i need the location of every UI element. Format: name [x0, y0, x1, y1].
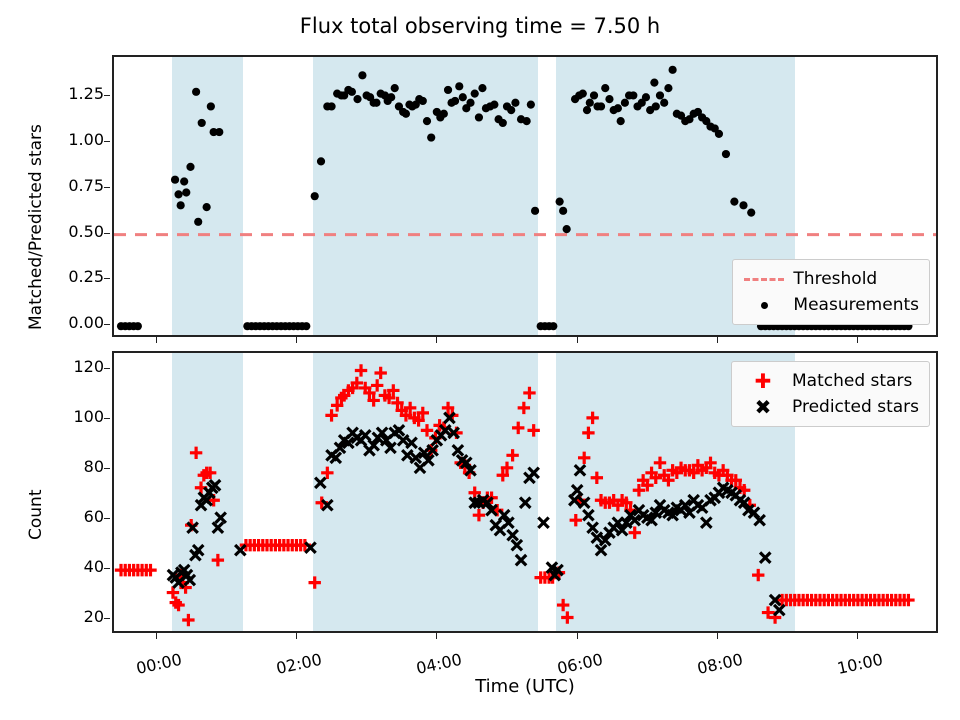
data-point [523, 117, 531, 125]
data-point [528, 468, 538, 478]
ytick-label: 1.25 [44, 86, 104, 102]
data-point [520, 498, 530, 508]
data-point [549, 322, 557, 330]
top-panel-legend: Threshold Measurements [732, 259, 930, 325]
data-point [575, 465, 585, 475]
data-point [629, 91, 637, 99]
data-point [355, 364, 367, 376]
ytick-mark [104, 418, 110, 419]
legend-label-predicted-stars: Predicted stars [786, 397, 919, 417]
data-point [466, 99, 474, 107]
data-point [583, 510, 593, 520]
data-point [523, 387, 535, 399]
legend-item-threshold[interactable]: Threshold [741, 266, 919, 292]
threshold-dashed-line-icon [741, 278, 787, 281]
data-point [701, 517, 711, 527]
data-point [511, 99, 519, 107]
ytick-mark [104, 95, 110, 96]
ytick-mark [104, 187, 110, 188]
data-point [473, 509, 485, 521]
x-marker-icon: ✖ [740, 397, 786, 417]
data-point [453, 445, 463, 455]
ytick-mark [104, 568, 110, 569]
data-point [570, 514, 582, 526]
data-point [582, 427, 594, 439]
data-point [586, 99, 594, 107]
ytick-label: 120 [44, 359, 104, 375]
data-point [315, 478, 325, 488]
data-point [398, 435, 408, 445]
xtick-mark [436, 633, 437, 639]
data-point [516, 555, 526, 565]
data-point [302, 322, 310, 330]
legend-item-predicted-stars[interactable]: ✖ Predicted stars [740, 394, 919, 420]
data-point [601, 84, 609, 92]
xtick-mark [857, 633, 858, 639]
xtick-mark [156, 633, 157, 639]
ytick-label: 20 [44, 609, 104, 625]
data-point [321, 467, 333, 479]
xtick-mark [296, 337, 297, 343]
data-point [198, 119, 206, 127]
legend-label-measurements: Measurements [787, 295, 919, 315]
data-point [374, 367, 386, 379]
data-point [559, 207, 567, 215]
data-point [360, 430, 370, 440]
data-point [471, 90, 479, 98]
ytick-label: 0.25 [44, 269, 104, 285]
xtick-mark [577, 337, 578, 343]
data-point [451, 97, 459, 105]
data-point [527, 424, 539, 436]
data-point [419, 97, 427, 105]
data-point [371, 379, 383, 391]
legend-label-matched-stars: Matched stars [786, 371, 912, 391]
data-point [597, 102, 605, 110]
data-point [760, 552, 770, 562]
data-point [596, 545, 606, 555]
data-point [182, 188, 190, 196]
plus-marker-icon: ✚ [740, 371, 786, 391]
ytick-label: 0.00 [44, 315, 104, 331]
data-point [180, 177, 188, 185]
data-point [579, 90, 587, 98]
data-point [512, 540, 522, 550]
data-point [587, 522, 597, 532]
data-point [747, 209, 755, 217]
data-point [391, 84, 399, 92]
data-point [215, 128, 223, 136]
data-point [592, 532, 602, 542]
data-point [669, 66, 677, 74]
data-point [358, 71, 366, 79]
data-point [215, 513, 225, 523]
data-point [459, 93, 467, 101]
data-point [317, 157, 325, 165]
data-point [506, 449, 518, 461]
data-point [499, 119, 507, 127]
data-point [440, 110, 448, 118]
data-point [527, 101, 535, 109]
ytick-mark [104, 141, 110, 142]
data-point [421, 424, 433, 436]
ytick-mark [104, 368, 110, 369]
data-point [348, 88, 356, 96]
data-point [578, 452, 590, 464]
data-point [134, 322, 142, 330]
data-point [557, 599, 569, 611]
data-point [194, 218, 202, 226]
data-point [617, 117, 625, 125]
data-point [402, 450, 412, 460]
data-point [621, 99, 629, 107]
data-point [660, 99, 668, 107]
data-point [605, 95, 613, 103]
ytick-label: 1.00 [44, 132, 104, 148]
xtick-mark [156, 337, 157, 343]
data-point [387, 93, 395, 101]
ytick-label: 100 [44, 409, 104, 425]
data-point [444, 86, 452, 94]
data-point [583, 106, 591, 114]
data-point [614, 104, 622, 112]
data-point [531, 207, 539, 215]
data-point [186, 163, 194, 171]
data-point [752, 569, 764, 581]
data-point [177, 201, 185, 209]
measurement-dot-icon [741, 302, 787, 309]
data-point [774, 605, 784, 615]
data-point [730, 198, 738, 206]
data-point [572, 485, 582, 495]
data-point [455, 82, 463, 90]
data-point [739, 201, 747, 209]
data-point [642, 93, 650, 101]
xtick-mark [296, 633, 297, 639]
xtick-mark [577, 633, 578, 639]
data-point [207, 102, 215, 110]
bottom-panel-legend: ✚ Matched stars ✖ Predicted stars [731, 361, 930, 427]
data-point [174, 190, 182, 198]
legend-label-threshold: Threshold [787, 269, 877, 289]
data-point [327, 102, 335, 110]
data-point [722, 150, 730, 158]
data-point [656, 91, 664, 99]
data-point [212, 554, 224, 566]
data-point [664, 84, 672, 92]
ytick-mark [104, 618, 110, 619]
x-axis-label: Time (UTC) [112, 676, 938, 697]
data-point [561, 611, 573, 623]
bottom-panel-axes: ✚ Matched stars ✖ Predicted stars [112, 351, 938, 633]
xtick-mark [857, 337, 858, 343]
data-point [518, 402, 530, 414]
data-point [654, 457, 666, 469]
ytick-mark [104, 324, 110, 325]
data-point [311, 192, 319, 200]
data-point [563, 225, 571, 233]
data-point [423, 117, 431, 125]
top-panel-ylabel: Matched/Predicted stars [26, 124, 46, 330]
data-point [507, 106, 515, 114]
data-point [556, 198, 564, 206]
page-title: Flux total observing time = 7.50 h [0, 14, 960, 38]
data-point [590, 91, 598, 99]
data-point [171, 176, 179, 184]
data-point [586, 412, 598, 424]
legend-item-measurements[interactable]: Measurements [741, 292, 919, 318]
top-panel-axes: Threshold Measurements [112, 55, 938, 337]
data-point [490, 101, 498, 109]
data-point [372, 99, 380, 107]
ytick-label: 80 [44, 459, 104, 475]
data-point [478, 84, 486, 92]
data-point [406, 438, 416, 448]
ytick-mark [104, 278, 110, 279]
data-point [182, 614, 194, 626]
data-point [203, 203, 211, 211]
ytick-label: 0.50 [44, 224, 104, 240]
xtick-mark [717, 337, 718, 343]
data-point [402, 110, 410, 118]
data-point [353, 95, 361, 103]
data-point [309, 576, 321, 588]
data-point [715, 130, 723, 138]
data-point [507, 530, 517, 540]
ytick-label: 0.75 [44, 178, 104, 194]
figure-canvas: Flux total observing time = 7.50 h Match… [0, 0, 960, 720]
data-point [652, 102, 660, 110]
data-point [190, 447, 202, 459]
data-point [213, 522, 223, 532]
ytick-label: 40 [44, 559, 104, 575]
bottom-panel-ylabel: Count [26, 490, 46, 541]
data-point [512, 422, 524, 434]
legend-item-matched-stars[interactable]: ✚ Matched stars [740, 368, 919, 394]
data-point [427, 133, 435, 141]
data-point [475, 113, 483, 121]
data-point [538, 517, 548, 527]
data-point [591, 472, 603, 484]
ytick-mark [104, 233, 110, 234]
xtick-mark [717, 633, 718, 639]
data-point [650, 79, 658, 87]
ytick-label: 60 [44, 509, 104, 525]
ytick-mark [104, 468, 110, 469]
xtick-mark [436, 337, 437, 343]
ytick-mark [104, 518, 110, 519]
data-point [192, 88, 200, 96]
